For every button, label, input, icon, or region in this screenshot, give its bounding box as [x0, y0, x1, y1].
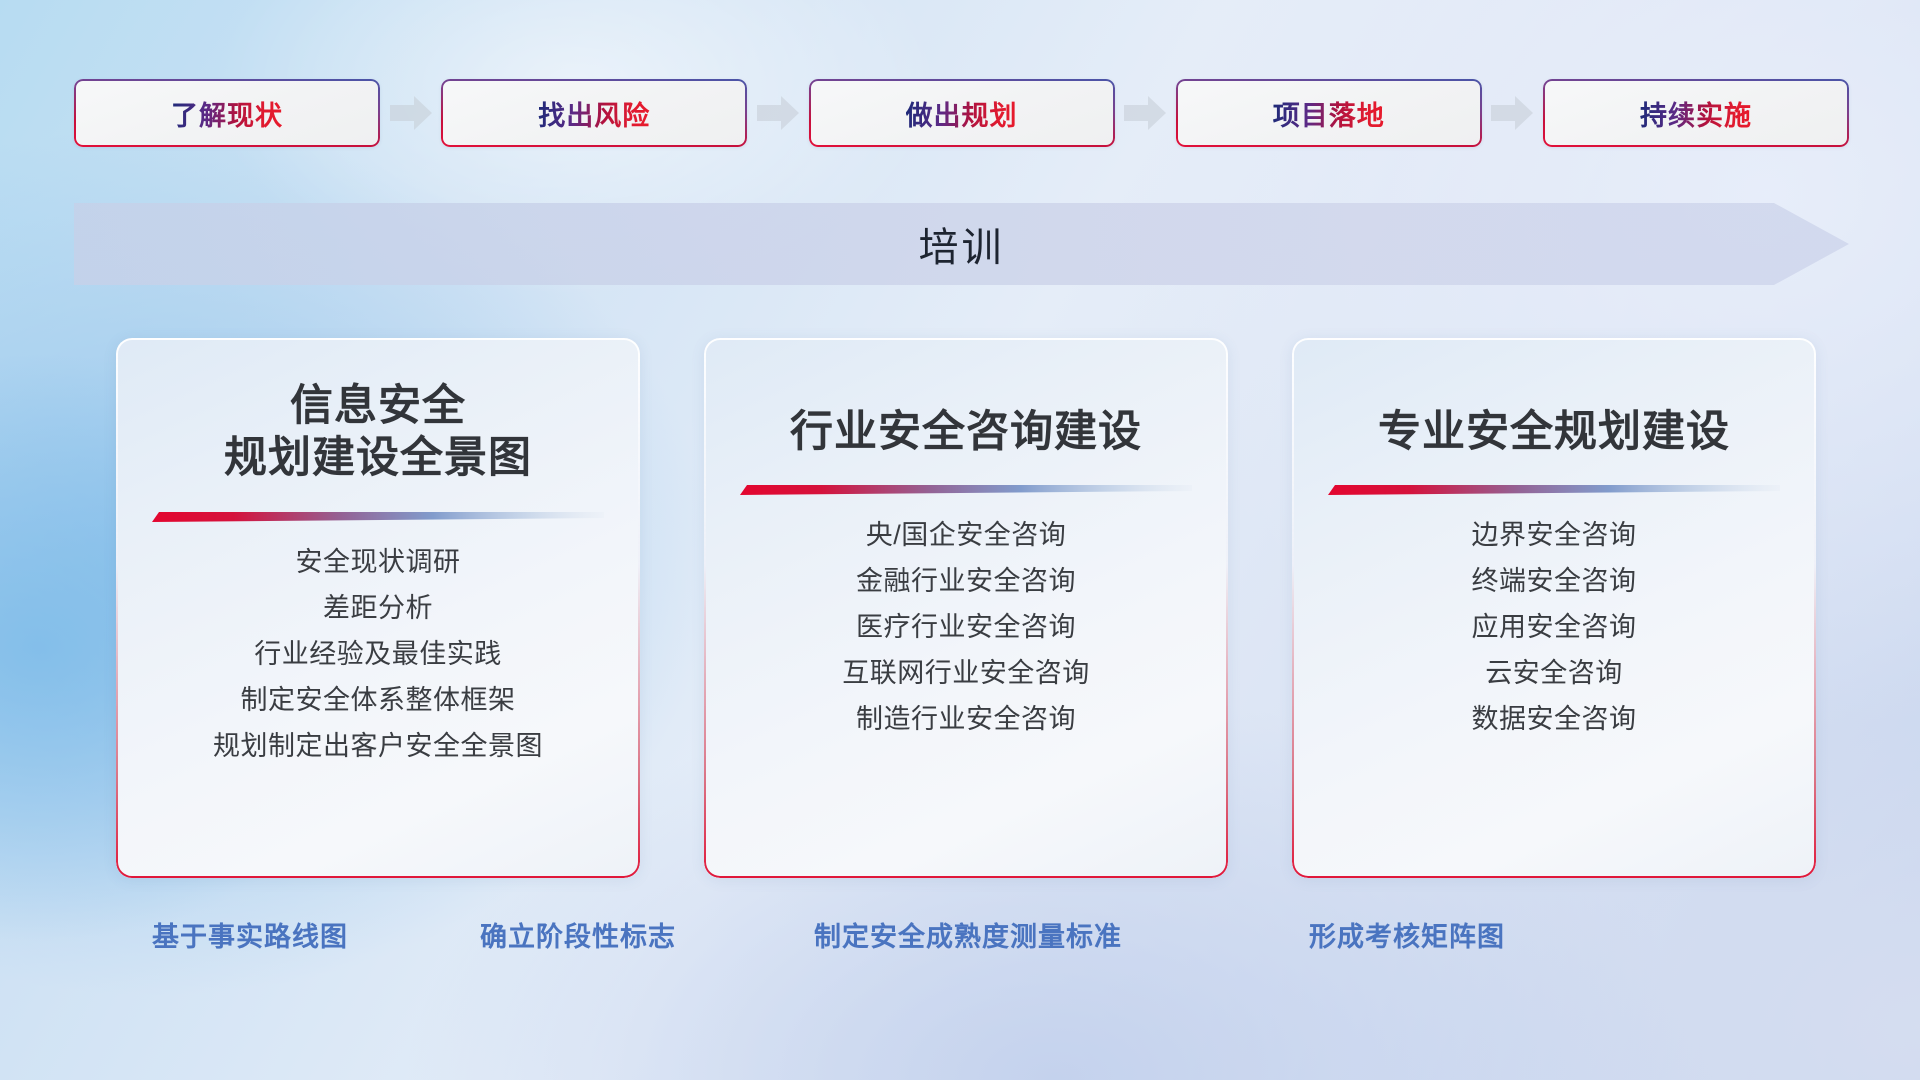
- list-item: 云安全咨询: [1318, 660, 1790, 687]
- list-item: 安全现状调研: [142, 549, 614, 576]
- card-accent-line: [1328, 484, 1780, 496]
- footer-caption-3: 制定安全成熟度测量标准: [814, 915, 1122, 954]
- banner-title: 培训: [74, 203, 1849, 285]
- card-professional[interactable]: 专业安全规划建设边界安全咨询终端安全咨询应用安全咨询云安全咨询数据安全咨询: [1292, 338, 1816, 878]
- arrow-right-icon: [390, 96, 432, 130]
- cards-row: 信息安全 规划建设全景图安全现状调研差距分析行业经验及最佳实践制定安全体系整体框…: [116, 338, 1816, 878]
- list-item: 差距分析: [142, 595, 614, 622]
- step-chip-label: 项目落地: [1273, 94, 1385, 133]
- list-item: 终端安全咨询: [1318, 568, 1790, 595]
- list-item: 边界安全咨询: [1318, 522, 1790, 549]
- arrow-right-icon: [1124, 96, 1166, 130]
- step-chip-5[interactable]: 持续实施: [1543, 79, 1849, 147]
- list-item: 互联网行业安全咨询: [730, 660, 1202, 687]
- arrow-right-icon: [1491, 96, 1533, 130]
- list-item: 规划制定出客户安全全景图: [142, 733, 614, 760]
- card-accent-line: [152, 511, 604, 523]
- list-item: 数据安全咨询: [1318, 706, 1790, 733]
- process-steps-row: 了解现状找出风险做出规划项目落地持续实施: [74, 79, 1849, 147]
- arrow-right-icon: [757, 96, 799, 130]
- footer-caption-1: 基于事实路线图: [152, 915, 348, 954]
- card-item-list: 央/国企安全咨询金融行业安全咨询医疗行业安全咨询互联网行业安全咨询制造行业安全咨…: [730, 496, 1202, 733]
- card-item-list: 边界安全咨询终端安全咨询应用安全咨询云安全咨询数据安全咨询: [1318, 496, 1790, 733]
- footer-caption-4: 形成考核矩阵图: [1309, 915, 1505, 954]
- list-item: 制定安全体系整体框架: [142, 687, 614, 714]
- list-item: 行业经验及最佳实践: [142, 641, 614, 668]
- list-item: 应用安全咨询: [1318, 614, 1790, 641]
- list-item: 制造行业安全咨询: [730, 706, 1202, 733]
- step-chip-label: 做出规划: [906, 94, 1018, 133]
- card-accent-line: [740, 484, 1192, 496]
- step-chip-4[interactable]: 项目落地: [1176, 79, 1482, 147]
- step-chip-2[interactable]: 找出风险: [441, 79, 747, 147]
- step-chip-label: 找出风险: [538, 94, 650, 133]
- infographic-page: 了解现状找出风险做出规划项目落地持续实施 培训 信息安全 规划建设全景图安全现状…: [0, 0, 1920, 1080]
- step-chip-label: 了解现状: [171, 94, 283, 133]
- step-chip-1[interactable]: 了解现状: [74, 79, 380, 147]
- card-industry[interactable]: 行业安全咨询建设央/国企安全咨询金融行业安全咨询医疗行业安全咨询互联网行业安全咨…: [704, 338, 1228, 878]
- card-title: 行业安全咨询建设: [730, 338, 1202, 458]
- card-item-list: 安全现状调研差距分析行业经验及最佳实践制定安全体系整体框架规划制定出客户安全全景…: [142, 523, 614, 760]
- training-banner: 培训: [74, 203, 1849, 285]
- card-title: 专业安全规划建设: [1318, 338, 1790, 458]
- list-item: 金融行业安全咨询: [730, 568, 1202, 595]
- list-item: 央/国企安全咨询: [730, 522, 1202, 549]
- footer-captions-row: 基于事实路线图确立阶段性标志制定安全成熟度测量标准形成考核矩阵图: [0, 915, 1920, 961]
- list-item: 医疗行业安全咨询: [730, 614, 1202, 641]
- step-chip-3[interactable]: 做出规划: [809, 79, 1115, 147]
- card-panorama[interactable]: 信息安全 规划建设全景图安全现状调研差距分析行业经验及最佳实践制定安全体系整体框…: [116, 338, 640, 878]
- card-title: 信息安全 规划建设全景图: [142, 338, 614, 485]
- footer-caption-2: 确立阶段性标志: [480, 915, 676, 954]
- step-chip-label: 持续实施: [1640, 94, 1752, 133]
